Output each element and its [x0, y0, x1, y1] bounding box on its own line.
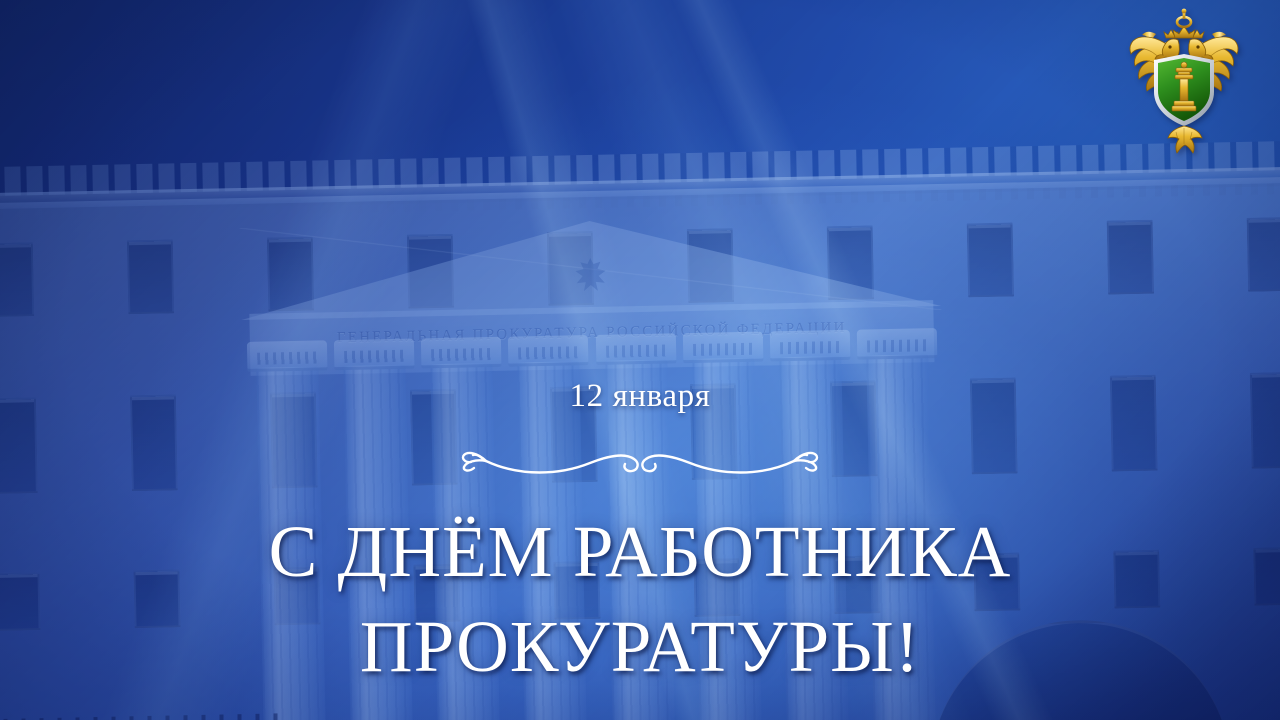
- headline-line-2: ПРОКУРАТУРЫ!: [0, 600, 1280, 695]
- emblem-shield: [1154, 54, 1214, 126]
- ornamental-flourish-divider-icon: [440, 437, 840, 481]
- poster-content: 12 января С ДНЁМ РАБОТНИКА ПРОКУРАТУРЫ!: [0, 0, 1280, 720]
- greeting-poster: ГЕНЕРАЛЬНАЯ ПРОКУРАТУРА РОССИЙСКОЙ ФЕДЕР…: [0, 0, 1280, 720]
- emblem-center-crown: [1173, 9, 1195, 38]
- prosecutor-general-emblem-icon: [1128, 8, 1240, 160]
- date-label: 12 января: [0, 378, 1280, 415]
- emblem-tail: [1168, 126, 1202, 153]
- page-title: С ДНЁМ РАБОТНИКА ПРОКУРАТУРЫ!: [0, 505, 1280, 695]
- headline-line-1: С ДНЁМ РАБОТНИКА: [269, 511, 1012, 592]
